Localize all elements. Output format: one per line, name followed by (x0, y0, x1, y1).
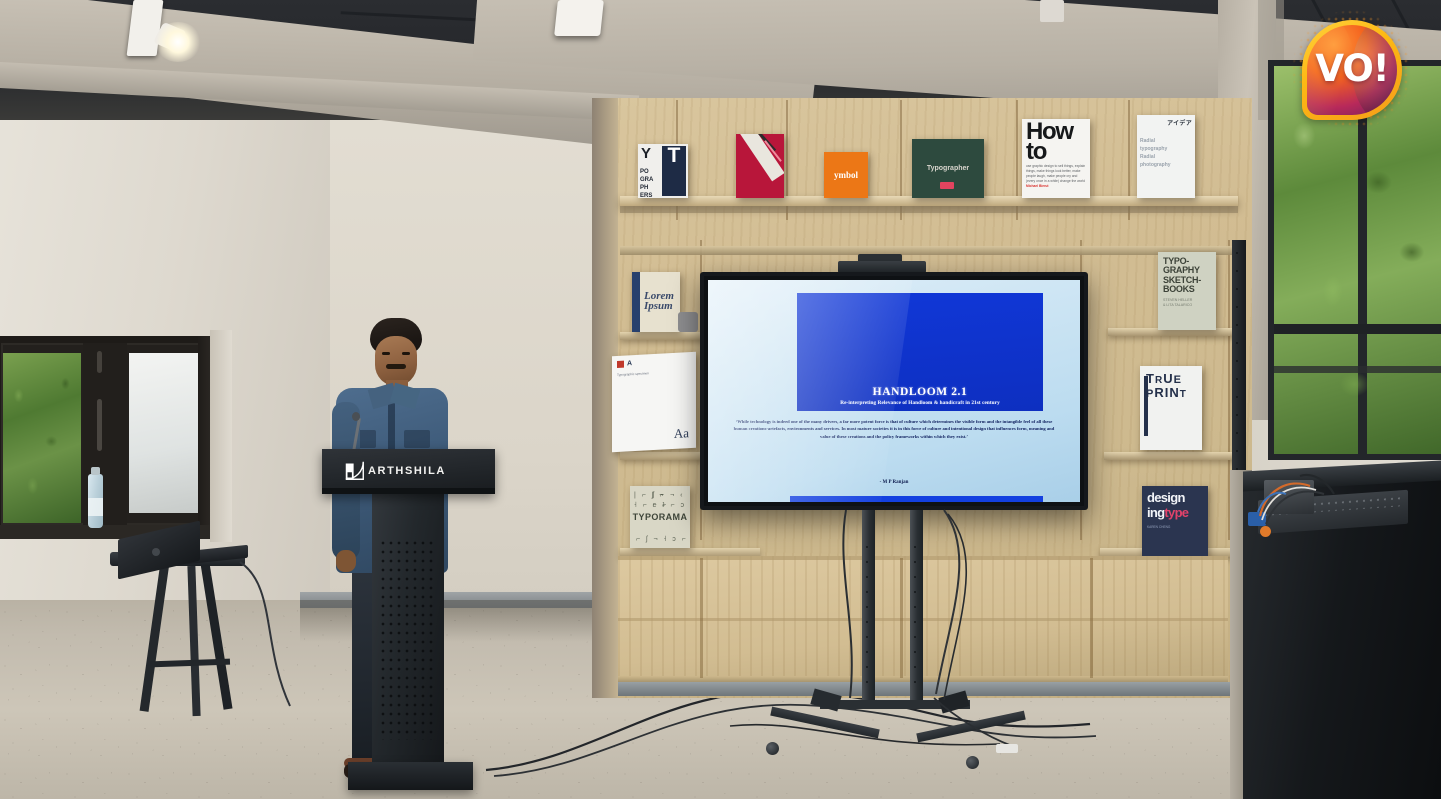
window-latch (97, 351, 102, 373)
podium-brand-label: ARTHSHILA (368, 465, 446, 477)
book-true-print: TRUE PRINT (1140, 366, 1202, 450)
book-typorama: | ⌐ ʃ ¬˧ ⌐ c ⌐ ʃ ⌐ ¬ ‹⌐ ʇ ⌐ ɔ TYPORAMA ⌐… (630, 486, 690, 548)
av-cables (1252, 468, 1362, 538)
book-red-diagonal (736, 134, 784, 198)
window-handle (97, 399, 102, 451)
book-script-cream: LoremIpsum (632, 272, 680, 332)
cabinet-divider (700, 558, 703, 678)
book-typographer: Typographer (912, 139, 984, 198)
tv-stand-cables (826, 508, 1016, 748)
book-yt-backtext: POGRAPHERS (639, 168, 660, 197)
caster-wheel (766, 742, 779, 755)
light-glow (155, 22, 201, 62)
book-typography-sketchbooks: TYPO-GRAPHYSKETCH-BOOKS STEVEN HELLER& L… (1158, 252, 1216, 330)
caster-wheel (966, 756, 979, 769)
presenter-moustache (386, 364, 406, 369)
water-bottle (88, 474, 103, 528)
shelf-object-cup (678, 312, 698, 332)
photo-scene: Y T POGRAPHERS ymbol Typographer Howto u… (0, 0, 1441, 799)
window-pane-frosted (129, 353, 199, 513)
window-rail (1274, 366, 1441, 373)
podium-lectern: ARTHSHILA (322, 449, 495, 494)
tv-screen: HANDLOOM 2.1 Re-interpreting Relevance o… (708, 280, 1080, 502)
book-how-to: Howto use graphic design to sell things,… (1022, 119, 1090, 198)
book-idea-magazine: アイデア RadialtypographyRadialphotography (1137, 115, 1195, 198)
book-symbol: ymbol (824, 152, 868, 198)
podium-base (348, 762, 473, 790)
podium-perforations (380, 540, 436, 740)
presenter-eye (402, 352, 410, 355)
window-rail (1274, 324, 1441, 334)
vo-watermark-logo: VO! (1302, 20, 1402, 120)
shelf-shadow (620, 206, 1238, 213)
presenter-face (375, 336, 417, 386)
laptop-logo (152, 548, 160, 556)
poster-aa: A Typographic specimen­­­­­­­­­­­­­­­­­­… (612, 352, 696, 452)
power-plug (996, 744, 1018, 753)
arthshila-logo-icon (344, 460, 365, 481)
presenter-eye (382, 352, 390, 355)
presentation-display: HANDLOOM 2.1 Re-interpreting Relevance o… (700, 272, 1088, 510)
book-designing-type: design ingtype KAREN CHENG (1142, 486, 1208, 556)
left-window (0, 336, 212, 532)
shelf-rail (620, 246, 1238, 255)
logo-text: VO! (1302, 20, 1402, 120)
presenter-hand (336, 550, 356, 572)
shirt-pocket (404, 430, 430, 448)
track-light (1040, 0, 1064, 22)
cabinet-divider (1090, 558, 1093, 678)
screen-glare (708, 280, 916, 502)
microphone-head (352, 412, 360, 421)
shelf-board-low-right (1104, 452, 1238, 460)
track-light (554, 0, 604, 36)
window-jamb (210, 330, 232, 542)
window-foliage-view (3, 353, 81, 523)
